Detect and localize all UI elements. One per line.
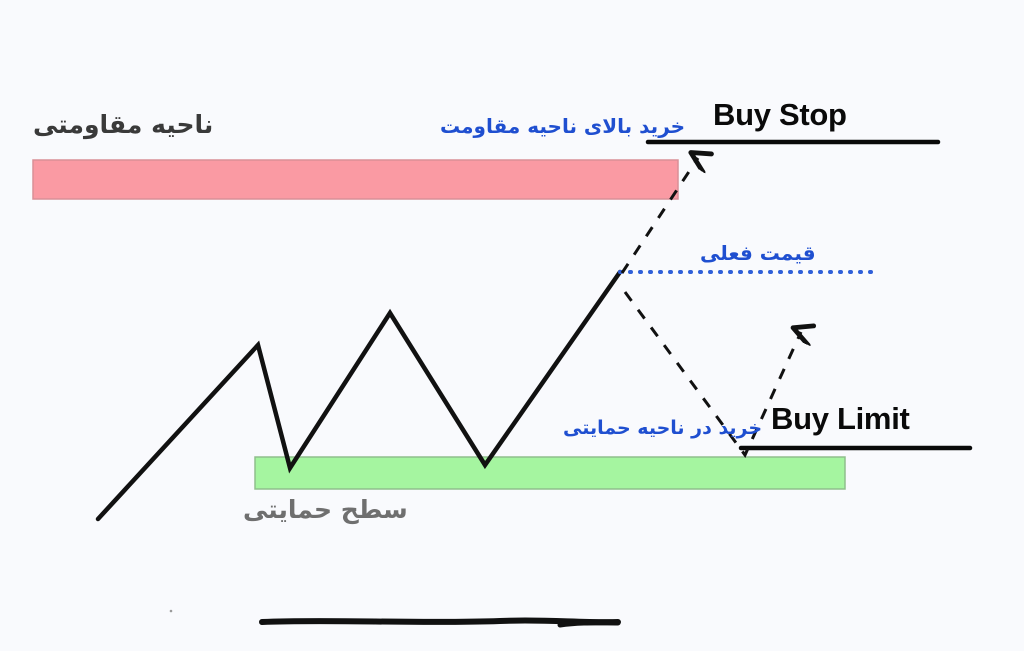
bottom-dot-artifact: [170, 610, 173, 613]
buy-above-resistance-label: خرید بالای ناحیه مقاومت: [440, 116, 685, 136]
buy-stop-label: Buy Stop: [713, 99, 847, 130]
support-level-label: سطح حمایتی: [243, 497, 408, 522]
resistance-zone-label: ناحیه مقاومتی: [33, 112, 213, 137]
current-price-label: قیمت فعلی: [700, 243, 816, 263]
buy-limit-label: Buy Limit: [771, 403, 910, 434]
buy-in-support-label: خرید در ناحیه حمایتی: [563, 419, 762, 438]
resistance-zone-rect: [33, 160, 678, 199]
support-zone-rect: [255, 457, 845, 489]
diagram-canvas: ناحیه مقاومتی خرید بالای ناحیه مقاومت Bu…: [0, 0, 1024, 651]
diagram-vector-layer: [0, 0, 1024, 651]
bottom-stroke-artifact-small: [560, 623, 618, 625]
